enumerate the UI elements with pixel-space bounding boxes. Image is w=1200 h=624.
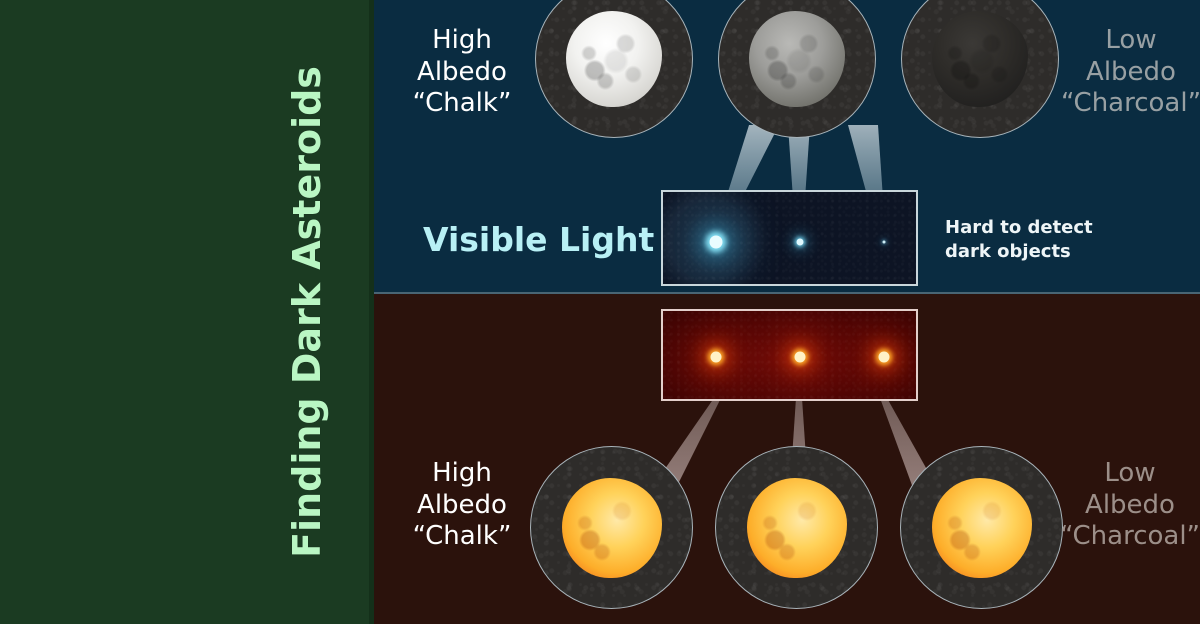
content-area: High Albedo “Chalk” Low Albedo “Charcoal… <box>374 0 1200 624</box>
asteroid-circle-medium-albedo-infrared <box>715 446 878 609</box>
label-high-albedo-visible: High Albedo “Chalk” <box>392 25 532 120</box>
label-line: Albedo <box>1061 57 1200 89</box>
asteroid-circle-high-albedo-visible <box>535 0 693 138</box>
detector-infrared-light <box>661 309 918 401</box>
label-line: Low <box>1059 458 1200 490</box>
infrared-light-section: Infrared Light Easy to detect dark objec… <box>374 294 1200 624</box>
point-source-high-albedo-visible <box>710 236 723 249</box>
label-line: “Charcoal” <box>1061 88 1200 120</box>
point-source-medium-albedo-infrared <box>795 352 806 363</box>
label-line: Albedo <box>392 57 532 89</box>
title-panel: Finding Dark Asteroids <box>0 0 374 624</box>
point-source-high-albedo-infrared <box>711 352 722 363</box>
asteroid-circle-low-albedo-visible <box>901 0 1059 138</box>
note-visible-light: Hard to detect dark objects <box>945 216 1093 265</box>
label-line: Albedo <box>1059 490 1200 522</box>
asteroid-circle-medium-albedo-visible <box>718 0 876 138</box>
label-line: Low <box>1061 25 1200 57</box>
asteroid-circle-low-albedo-infrared <box>900 446 1063 609</box>
page-title: Finding Dark Asteroids <box>285 66 329 558</box>
label-line: Albedo <box>392 490 532 522</box>
label-line: High <box>392 25 532 57</box>
detector-visible-light <box>661 190 918 286</box>
point-source-low-albedo-visible <box>883 241 886 244</box>
label-line: “Charcoal” <box>1059 521 1200 553</box>
point-source-low-albedo-infrared <box>879 352 890 363</box>
asteroid-circle-high-albedo-infrared <box>530 446 693 609</box>
note-line: dark objects <box>945 240 1093 264</box>
label-line: “Chalk” <box>392 521 532 553</box>
infographic-canvas: Finding Dark Asteroids <box>0 0 1200 624</box>
label-high-albedo-infrared: High Albedo “Chalk” <box>392 458 532 553</box>
label-low-albedo-visible: Low Albedo “Charcoal” <box>1061 25 1200 120</box>
band-label-visible-light: Visible Light <box>423 220 654 259</box>
label-line: “Chalk” <box>392 88 532 120</box>
point-source-medium-albedo-visible <box>797 239 804 246</box>
label-line: High <box>392 458 532 490</box>
visible-light-section: High Albedo “Chalk” Low Albedo “Charcoal… <box>374 0 1200 294</box>
label-low-albedo-infrared: Low Albedo “Charcoal” <box>1059 458 1200 553</box>
note-line: Hard to detect <box>945 216 1093 240</box>
detector-grain <box>663 192 916 284</box>
title-wrap: Finding Dark Asteroids <box>247 0 367 624</box>
